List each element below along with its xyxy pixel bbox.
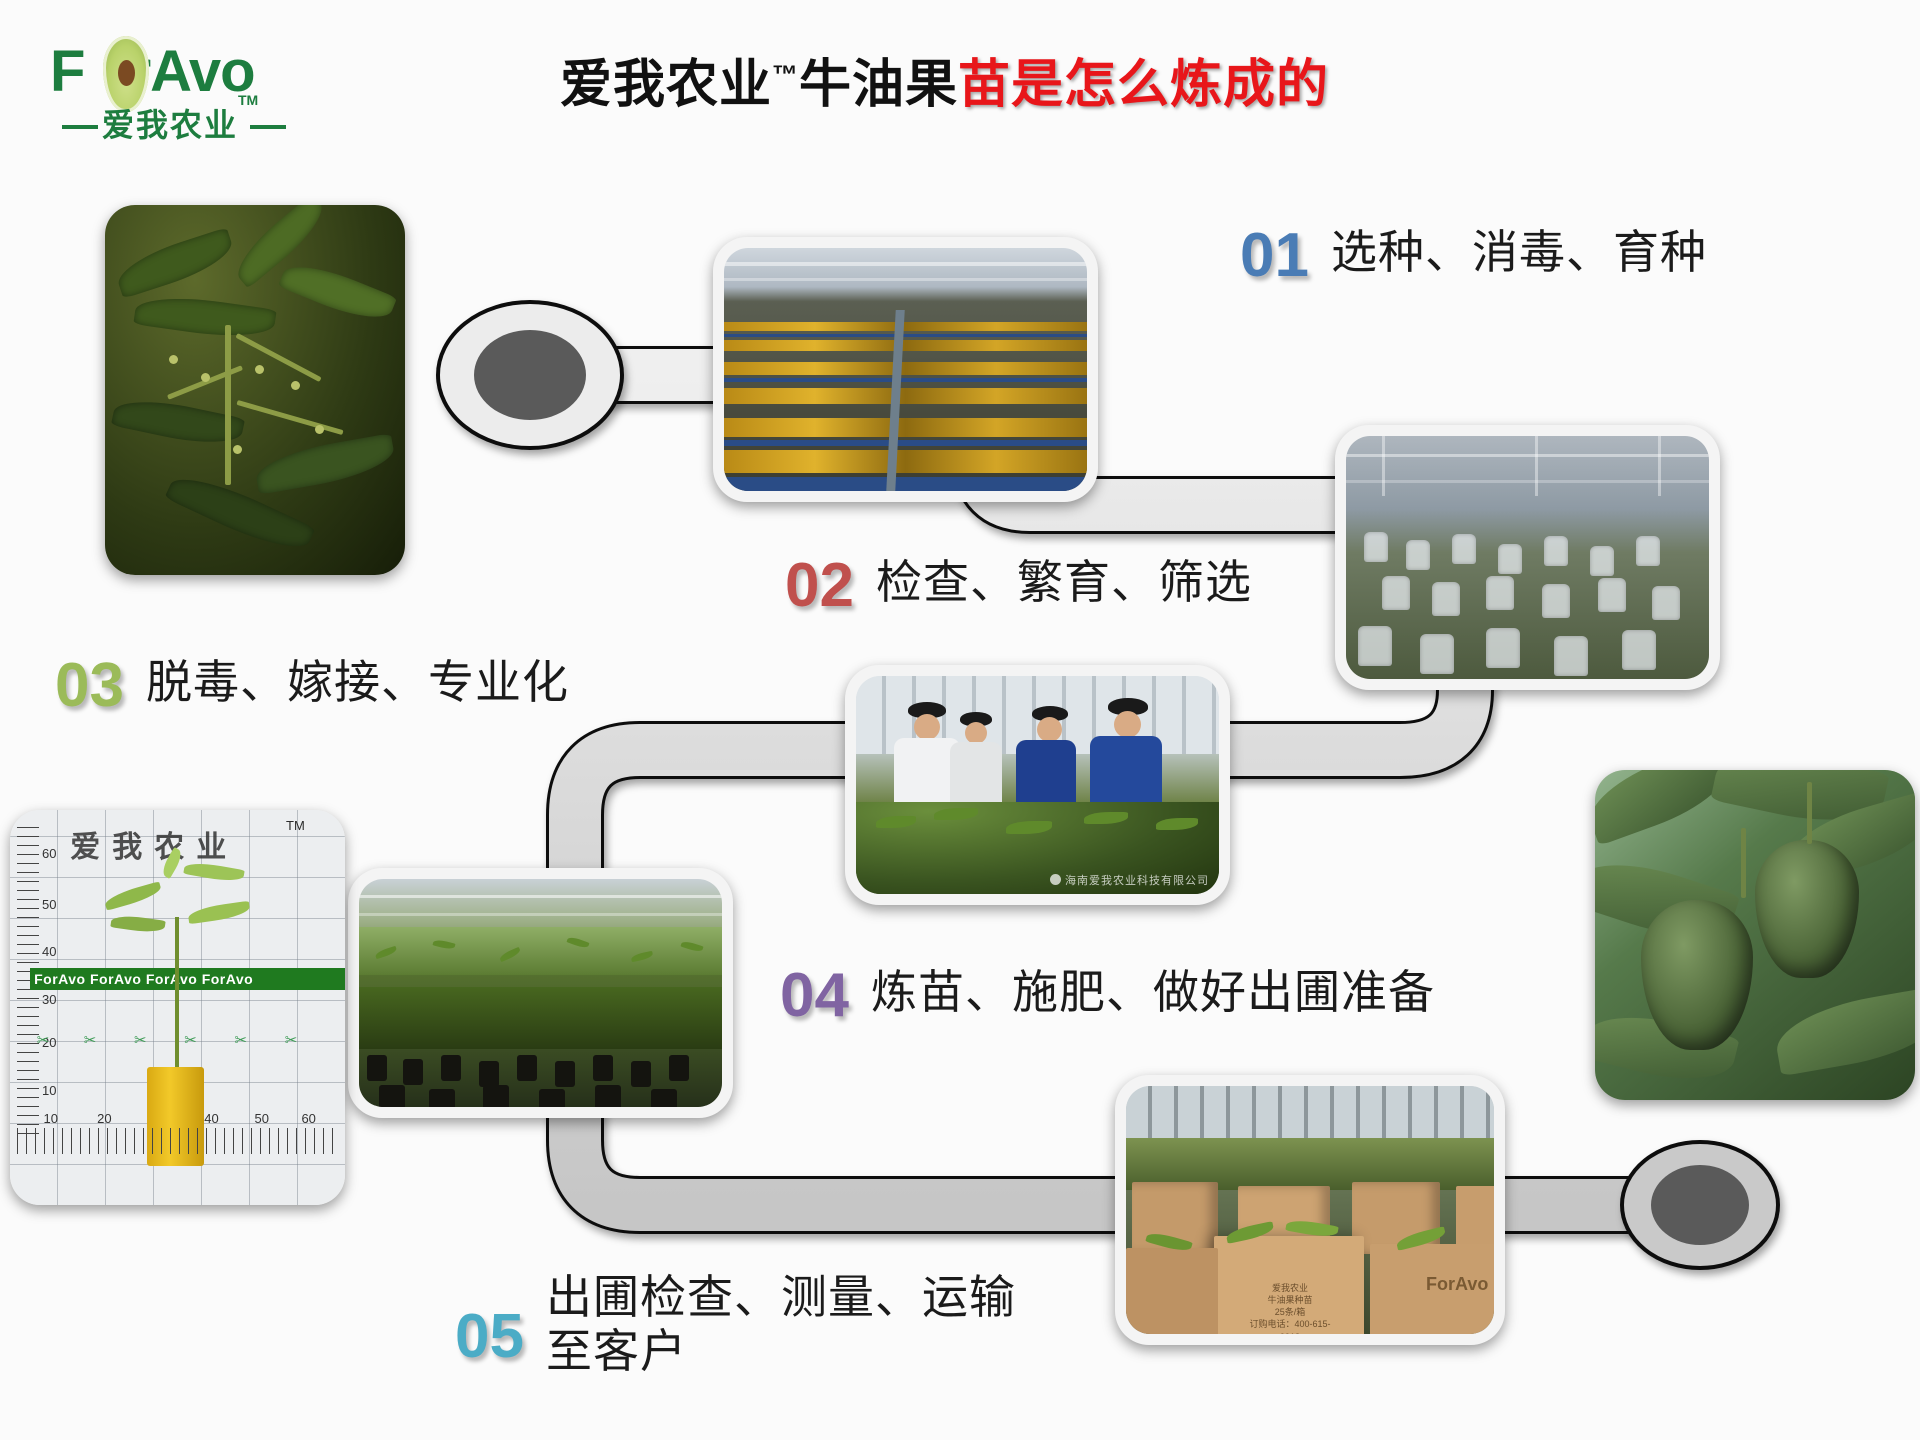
photo-packed-boxes-shipping: 爱我农业 牛油果种苗 25条/箱 订购电话：400-615-9918 ForAv…	[1115, 1075, 1505, 1345]
box-weight-print: 25条/箱	[1244, 1306, 1336, 1318]
step-05: 05 出圃检查、测量、运输 至客户	[455, 1270, 1016, 1379]
board-vtick: 40	[42, 944, 56, 959]
step-04: 04 炼苗、施肥、做好出圃准备	[780, 965, 1435, 1027]
box-phone-print: 订购电话：400-615-9918	[1244, 1318, 1336, 1334]
board-htick: 50	[255, 1111, 269, 1126]
step-01-number: 01	[1240, 225, 1309, 287]
flow-end-node	[1622, 1142, 1778, 1268]
board-vtick: 10	[42, 1083, 56, 1098]
board-foravo-band: ForAvo ForAvo ForAvo ForAvo	[30, 968, 345, 990]
photo-avocado-fruit-on-tree	[1595, 770, 1915, 1100]
board-vtick: 30	[42, 992, 56, 1007]
board-htick: 40	[204, 1111, 218, 1126]
board-htick: 20	[97, 1111, 111, 1126]
box-brand-print: 爱我农业	[1244, 1282, 1336, 1294]
step-01: 01 选种、消毒、育种	[1240, 225, 1707, 287]
board-tm: TM	[286, 818, 305, 833]
photo-seedling-measuring-board: 爱我农业 TM 60 50 40 30 20 10 ForAvo ForAvo …	[10, 810, 345, 1205]
step-01-text: 选种、消毒、育种	[1331, 225, 1707, 279]
step-04-text: 炼苗、施肥、做好出圃准备	[871, 965, 1435, 1019]
board-htick: 10	[44, 1111, 58, 1126]
step-03-text: 脱毒、嫁接、专业化	[146, 655, 569, 709]
photo-greenhouse-seed-trays	[713, 237, 1098, 502]
photo-avocado-flowering-branch	[105, 205, 405, 575]
photo-greenhouse-grafting-bags	[1335, 425, 1720, 690]
photo-watermark: 海南爱我农业科技有限公司	[1050, 872, 1209, 888]
photo-potted-seedling-rows	[348, 868, 733, 1118]
board-htick: 60	[301, 1111, 315, 1126]
step-02: 02 检查、繁育、筛选	[785, 555, 1252, 617]
step-04-number: 04	[780, 965, 849, 1027]
flow-start-node	[438, 302, 622, 448]
box-logo-print: ForAvo	[1426, 1274, 1488, 1295]
board-vtick: 50	[42, 897, 56, 912]
step-05-number: 05	[455, 1306, 524, 1368]
step-03-number: 03	[55, 655, 124, 717]
board-brand-text: 爱我农业	[70, 822, 238, 866]
step-02-text: 检查、繁育、筛选	[876, 555, 1252, 609]
photo-staff-inspecting-seedlings: 海南爱我农业科技有限公司	[845, 665, 1230, 905]
box-product-print: 牛油果种苗	[1244, 1294, 1336, 1306]
infographic-canvas: FOrAvo 爱我农业 TM 爱我农业™牛油果苗是怎么炼成的	[0, 0, 1920, 1440]
step-05-text: 出圃检查、测量、运输 至客户	[546, 1270, 1016, 1379]
step-03: 03 脱毒、嫁接、专业化	[55, 655, 569, 717]
step-02-number: 02	[785, 555, 854, 617]
board-vtick: 60	[42, 846, 56, 861]
